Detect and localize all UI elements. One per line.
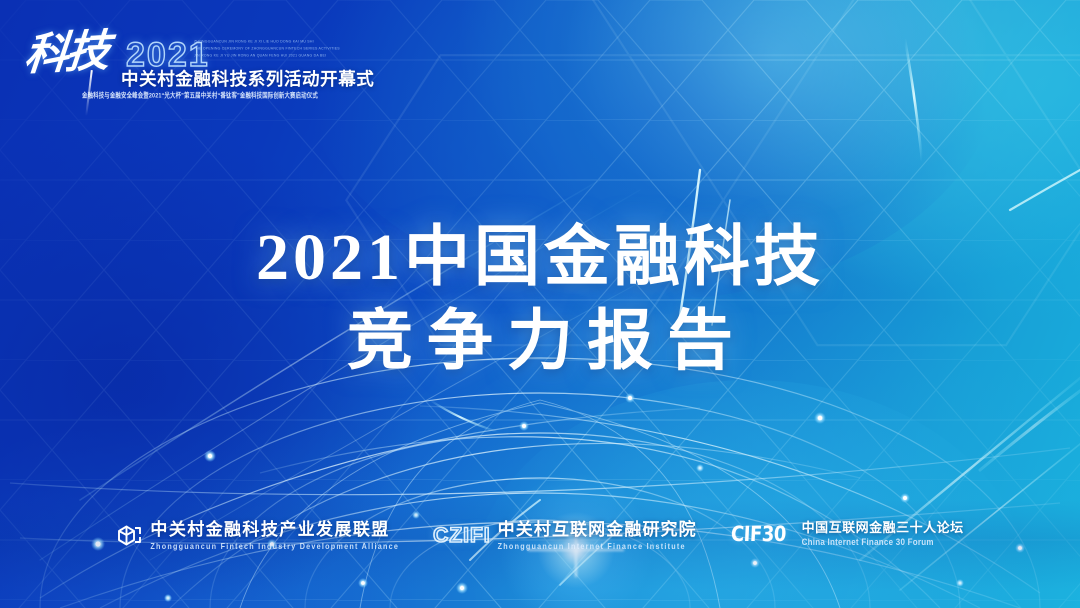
sponsor-institute-name-zh: 中关村互联网金融研究院	[498, 520, 697, 539]
sponsor-institute-text: 中关村互联网金融研究院 Zhongguancun Internet Financ…	[498, 520, 697, 551]
cif30-logo-icon: CIF30	[730, 523, 786, 545]
background-glow-bottom	[470, 380, 1030, 608]
czifi-logo-icon: CZIFI	[433, 525, 491, 547]
sponsor-alliance-name-zh: 中关村金融科技产业发展联盟	[150, 520, 399, 539]
sponsor-forum: CIF30 中国互联网金融三十人论坛 China Internet Financ…	[731, 520, 964, 547]
sponsor-forum-name-en: China Internet Finance 30 Forum	[802, 537, 964, 548]
event-english-line-1: ZHONGGUANCUN JIN RONG KE JI XI LIE HUO D…	[194, 39, 354, 45]
sponsor-alliance-name-en: Zhongguancun Fintech Industry Developmen…	[150, 541, 399, 552]
background-glow-highlight	[560, 0, 990, 220]
title-line-2: 竞争力报告	[0, 300, 1080, 384]
sponsor-institute: CZIFI 中关村互联网金融研究院 Zhongguancun Internet …	[433, 520, 697, 551]
poster-stage: 科技 2021 ZHONGGUANCUN JIN RONG KE JI XI L…	[0, 0, 1080, 608]
sponsor-bar: 中关村金融科技产业发展联盟 Zhongguancun Fintech Indus…	[0, 520, 1080, 568]
page-title: 2021中国金融科技 竞争力报告	[0, 216, 1080, 384]
sponsor-forum-text: 中国互联网金融三十人论坛 China Internet Finance 30 F…	[802, 520, 964, 547]
event-english-line-3: JIN RONG KE JI YU JIN RONG AN QUAN FENG …	[194, 53, 354, 59]
event-english-line-2: THE OPENING CEREMONY OF ZHONGGUANCUN FIN…	[194, 46, 354, 52]
sponsor-institute-name-en: Zhongguancun Internet Finance Institute	[498, 541, 697, 552]
event-logo: 科技 2021 ZHONGGUANCUN JIN RONG KE JI XI L…	[22, 22, 352, 104]
event-subtitle: 金融科技与金融安全峰会暨2021“光大杯”第五届中关村“番钛客”金融科技国际创新…	[82, 90, 318, 100]
sponsor-forum-name-zh: 中国互联网金融三十人论坛	[802, 520, 964, 535]
event-name: 中关村金融科技系列活动开幕式	[121, 66, 374, 91]
event-english-subtitle: ZHONGGUANCUN JIN RONG KE JI XI LIE HUO D…	[194, 39, 354, 59]
background-glow-top	[300, 0, 1000, 300]
sponsor-alliance: 中关村金融科技产业发展联盟 Zhongguancun Fintech Indus…	[116, 520, 399, 551]
title-line-1: 2021中国金融科技	[0, 216, 1080, 300]
sponsor-alliance-text: 中关村金融科技产业发展联盟 Zhongguancun Fintech Indus…	[150, 520, 399, 551]
cube-icon	[116, 522, 143, 549]
calligraphy-keji: 科技	[20, 21, 131, 100]
